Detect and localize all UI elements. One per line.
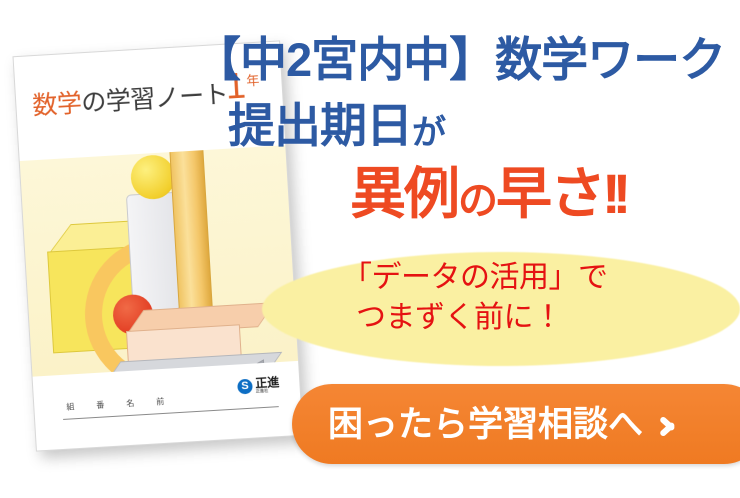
book-footer: 組番名前 S 正進正進社 <box>33 361 303 451</box>
headline-line-3-main: 異例 <box>350 162 458 225</box>
headline-line-1: 【中2宮内中】数学ワーク <box>194 36 725 83</box>
headline-line-2-main: 提出期日 <box>228 99 412 152</box>
subcopy-line-2: つまずく前に！ <box>342 298 608 338</box>
headline-line-3-tail: 早さ <box>496 162 604 225</box>
headline-line-2: 提出期日が <box>228 102 445 150</box>
publisher-name: 正進正進社 <box>255 376 280 393</box>
publisher-logo-mark-icon: S <box>237 378 253 394</box>
book-title-highlight: 数学 <box>32 89 83 120</box>
headline-line-3: 異例の早さ!! <box>350 166 623 222</box>
publisher-logo: S 正進正進社 <box>237 376 280 394</box>
headline-line-2-particle: が <box>412 114 445 152</box>
headline-line-3-exclamation: !! <box>602 162 623 225</box>
subcopy: 「データの活用」でつまずく前に！ <box>342 258 608 338</box>
headline-line-3-particle: の <box>458 179 496 223</box>
consultation-cta-button[interactable]: 困ったら学習相談へ <box>292 384 740 464</box>
publisher-subname: 正進社 <box>256 388 280 393</box>
chevron-right-icon <box>659 409 677 439</box>
promo-banner: 数学の学習ノート 1年 組番名前 <box>0 0 740 498</box>
book-cover-illustration <box>20 145 298 376</box>
book-title-rest: の学習ノート <box>81 81 229 118</box>
book-name-field-labels: 組番名前 <box>66 395 186 413</box>
cta-button-label: 困ったら学習相談へ <box>328 407 643 442</box>
subcopy-line-1: 「データの活用」で <box>342 261 608 294</box>
